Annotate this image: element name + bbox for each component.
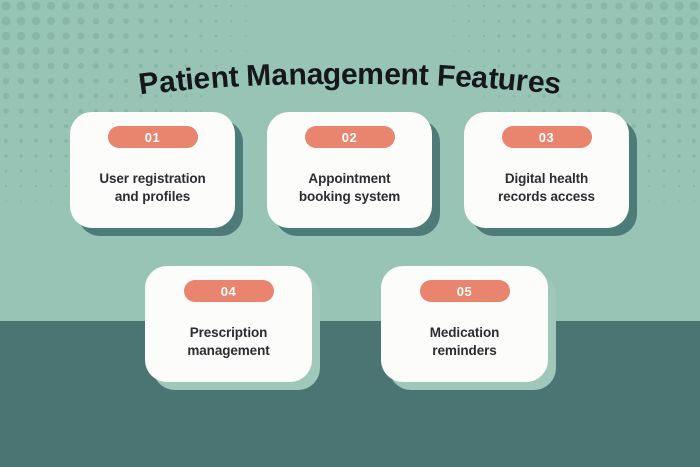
page-title-text: Patient Management Features	[141, 32, 558, 92]
page-title: Patient Management Features	[0, 32, 700, 102]
feature-card-04[interactable]: 04 Prescription management	[145, 266, 312, 382]
card-label: Prescription management	[187, 324, 269, 360]
card-number-badge: 02	[305, 126, 395, 148]
card-number-badge: 05	[420, 280, 510, 302]
feature-card-03[interactable]: 03 Digital health records access	[464, 112, 629, 228]
background-band-bottom	[0, 321, 700, 467]
card-label: Digital health records access	[498, 170, 595, 206]
card-label: User registration and profiles	[99, 170, 205, 206]
feature-card-02[interactable]: 02 Appointment booking system	[267, 112, 432, 228]
card-label: Appointment booking system	[299, 170, 400, 206]
card-number-badge: 04	[184, 280, 274, 302]
feature-card-01[interactable]: 01 User registration and profiles	[70, 112, 235, 228]
card-number-badge: 01	[108, 126, 198, 148]
infographic-canvas: Patient Management Features 01 User regi…	[0, 0, 700, 467]
card-number-badge: 03	[502, 126, 592, 148]
feature-card-05[interactable]: 05 Medication reminders	[381, 266, 548, 382]
card-label: Medication reminders	[430, 324, 500, 360]
